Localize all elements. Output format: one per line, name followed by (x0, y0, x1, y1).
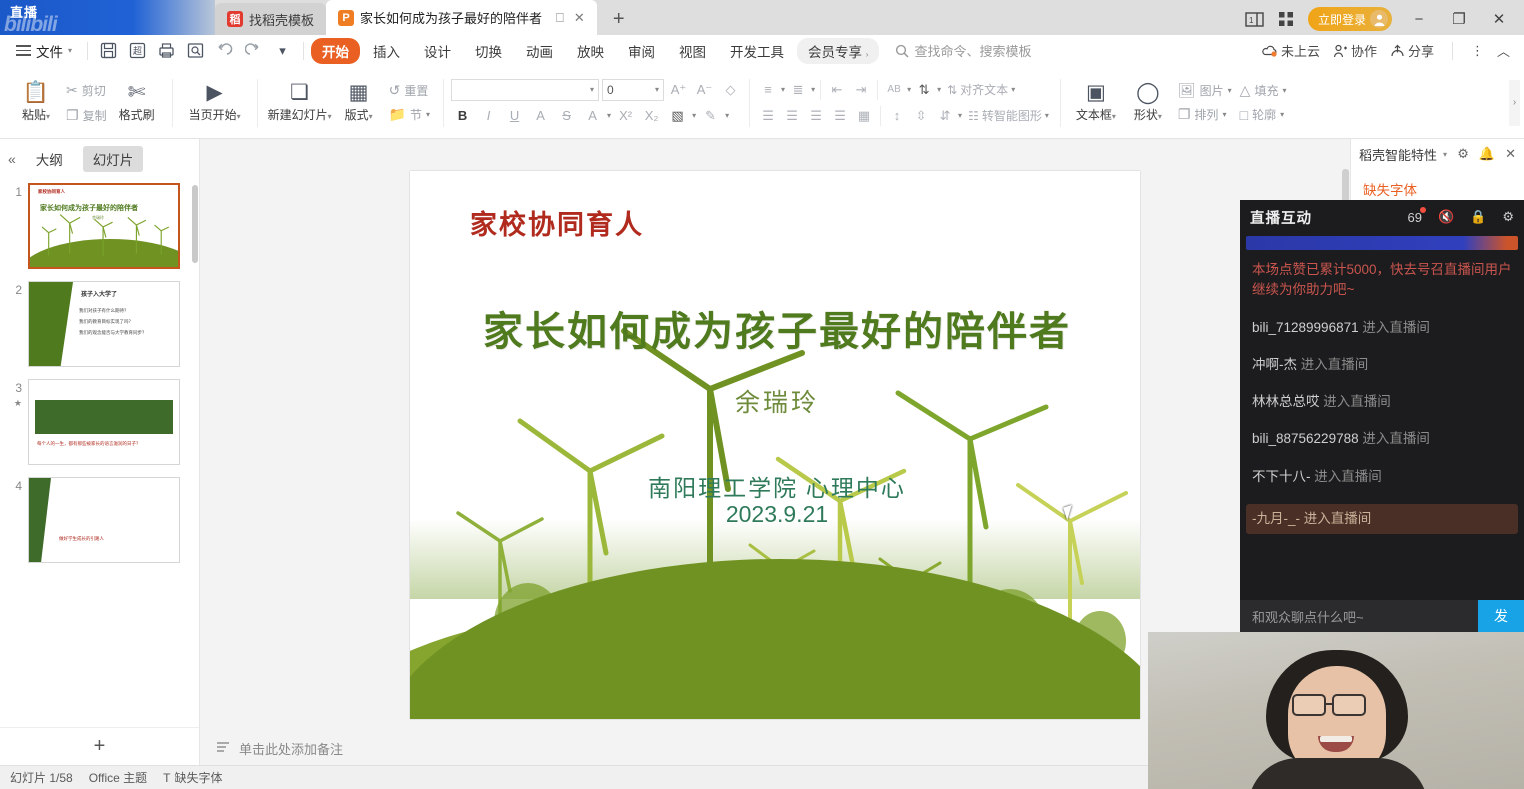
layout-label: 版式 (345, 108, 369, 122)
list-item[interactable]: 2 孩子入大学了 我们对孩子有什么期待？ 我们的教育目标实现了吗？ 我们的观念能… (0, 281, 193, 367)
cut-label: 剪切 (82, 82, 106, 99)
numbering-button[interactable]: ≣ (787, 79, 809, 100)
collapse-panel-icon[interactable]: « (8, 151, 16, 167)
copy-icon: ❐ (66, 107, 79, 124)
section-label: 节 (410, 106, 422, 123)
add-slide-button[interactable]: + (0, 727, 199, 765)
chat-user: -九月-_- (1252, 511, 1300, 526)
system-message: 本场点赞已累计5000，快去号召直播间用户继续为你助力吧~ (1252, 260, 1512, 301)
arrange-label: 排列 (1194, 106, 1218, 123)
tab-slides[interactable]: 幻灯片 (83, 146, 144, 172)
copy-label: 复制 (83, 107, 107, 124)
font-size-input[interactable]: 0 ▾ (602, 79, 664, 101)
paste-label: 粘贴 (22, 108, 46, 122)
outline-label: 轮廓 (1252, 106, 1276, 123)
font-size-value: 0 (607, 83, 614, 97)
chat-action: 进入直播间 (1301, 357, 1369, 372)
missing-font-label: 缺失字体 (175, 769, 223, 786)
shape-icon: ◯ (1136, 82, 1160, 103)
tab-presentation[interactable]: P 家长如何成为孩子最好的陪伴者 ⎕ ✕ (326, 0, 597, 35)
chat-user: bili_71289996871 (1252, 320, 1359, 335)
green-banner (29, 478, 51, 562)
expand-ribbon-button[interactable]: › (1509, 80, 1520, 126)
slide-number: 2 (4, 281, 22, 367)
align-text-icon: ⇅ (947, 83, 957, 97)
close-icon[interactable]: ✕ (1505, 146, 1516, 162)
picture-button[interactable]: 🖼 图片▾ (1174, 80, 1236, 101)
redo-icon[interactable] (240, 39, 267, 63)
cloud-status-label: 未上云 (1281, 41, 1320, 60)
new-slide-label: 新建幻灯片 (268, 108, 328, 122)
thumbnail-4[interactable]: 做好学生成长的引路人 (28, 477, 180, 563)
reset-button[interactable]: ↺ 重置 (385, 80, 434, 101)
divider (1060, 79, 1061, 127)
align-left-button[interactable]: ☰ (757, 105, 779, 126)
glasses-right (1332, 694, 1366, 716)
ribbon-group-font: ▾ 0 ▾ A⁺ A⁻ ◇ B I U A S A ▾ X² X₂ ▧ ▾ ✎ … (447, 79, 746, 127)
slide-number: 3 ★ (4, 379, 22, 465)
docer-panel-title: 稻壳智能特性 (1359, 145, 1437, 164)
chat-input[interactable]: 和观众聊点什么吧~ (1240, 607, 1478, 626)
bullets-button[interactable]: ≡ (757, 79, 779, 100)
file-menu-button[interactable]: 文件 ▾ (8, 39, 80, 63)
save-icon[interactable] (95, 39, 122, 63)
start-from-current-label: 当页开始 (189, 108, 237, 122)
svg-text:超: 超 (133, 45, 142, 56)
text-direction-button[interactable]: AB (883, 79, 905, 100)
picture-label: 图片 (1200, 82, 1224, 99)
menu-tab-insert[interactable]: 插入 (362, 38, 411, 64)
menu-tab-transition[interactable]: 切换 (464, 38, 513, 64)
live-promo-banner[interactable] (1246, 236, 1518, 250)
chevron-down-icon: ▾ (68, 46, 72, 55)
textbox-icon: ▣ (1086, 82, 1106, 103)
slide-author[interactable]: 余瑞玲 (457, 383, 1097, 419)
ribbon-group-paragraph: ≡▾ ≣▾ ⇤ ⇥ AB▾ ⇅▾ ⇅ 对齐文本 ▾ ☰ ☰ ☰ ☰ ▦ ↕ ⇳ … (753, 79, 1057, 126)
chat-message: 不下十八- 进入直播间 (1252, 467, 1512, 487)
close-window-button[interactable]: ✕ (1486, 7, 1512, 31)
format-painter-button[interactable]: ✄ 格式刷 (111, 71, 163, 135)
menu-tab-vip[interactable]: 会员专享 › (797, 38, 879, 64)
svg-text:1: 1 (1249, 16, 1254, 25)
like-count: 69 (1408, 210, 1422, 225)
strikethrough-button[interactable]: S (555, 105, 578, 127)
share-icon (1390, 44, 1405, 58)
chat-action: 进入直播间 (1362, 320, 1430, 335)
star-icon: ★ (14, 398, 22, 408)
arrange-icon: ❐ (1178, 106, 1191, 123)
menu-tab-design[interactable]: 设计 (413, 38, 462, 64)
notes-placeholder: 单击此处添加备注 (239, 739, 343, 758)
underline-button[interactable]: U (503, 105, 526, 127)
tab-outline[interactable]: 大纲 (26, 146, 73, 172)
shape-button[interactable]: ◯ 形状▾ (1122, 71, 1174, 135)
print-icon[interactable] (153, 39, 180, 63)
like-icon[interactable]: 69 (1408, 210, 1422, 225)
fill-label: 填充 (1254, 82, 1278, 99)
cloud-off-icon (1262, 44, 1278, 58)
menu-tab-developer[interactable]: 开发工具 (719, 38, 795, 64)
more-options-button[interactable]: ⋮ (1471, 43, 1484, 59)
login-button[interactable]: 立即登录 (1308, 7, 1392, 31)
tab-label: 找稻壳模板 (249, 10, 314, 29)
grid-view-icon[interactable] (1278, 11, 1294, 27)
cut-button[interactable]: ✂ 剪切 (62, 80, 111, 101)
superscript-button[interactable]: X² (614, 105, 637, 127)
thumbnail-list[interactable]: 1 家校协同育人 家长如何成为孩子最好的陪伴者 余瑞玲 (0, 179, 199, 727)
notes-icon (216, 740, 231, 757)
arrange-button[interactable]: ❐ 排列▾ (1174, 104, 1236, 125)
divider (443, 79, 444, 127)
collaborate-icon (1333, 44, 1348, 58)
paste-icon: 📋 (23, 82, 49, 103)
slide-thumbnail-panel: « 大纲 幻灯片 1 家校协同育人 家长如何成为孩子最好的陪伴者 余瑞玲 (0, 139, 200, 765)
collaborate-label: 协作 (1351, 41, 1377, 60)
undo-icon[interactable] (211, 39, 238, 63)
webcam-overlay[interactable] (1148, 632, 1524, 789)
align-right-button[interactable]: ☰ (805, 105, 827, 126)
outline-button[interactable]: □ 轮廓▾ (1236, 104, 1291, 125)
reading-layout-icon[interactable]: 1 (1245, 12, 1264, 27)
font-name-input[interactable]: ▾ (451, 79, 599, 101)
chat-action: 进入直播间 (1314, 469, 1382, 484)
reset-icon: ↺ (389, 82, 401, 99)
send-button[interactable]: 发 (1478, 600, 1524, 632)
thumb-line: 每个人的一生，都有那些被家长的语言滋润的日子？ (37, 440, 171, 448)
search-icon (895, 44, 909, 58)
minimize-button[interactable]: − (1406, 7, 1432, 31)
chat-message-highlighted: -九月-_- 进入直播间 (1246, 504, 1518, 534)
save-as-icon[interactable]: 超 (124, 39, 151, 63)
thumb-top-text (37, 385, 173, 393)
glasses-left (1292, 694, 1326, 716)
font-icon: T (163, 771, 170, 785)
chat-user: 不下十八- (1252, 469, 1311, 484)
paragraph-spacing-button[interactable]: ⇳ (910, 105, 932, 126)
teeth (1320, 736, 1352, 742)
slide-title[interactable]: 家长如何成为孩子最好的陪伴者 (457, 299, 1097, 357)
live-chat-input-row: 和观众聊点什么吧~ 发 (1240, 600, 1524, 632)
character-border-button[interactable]: A (581, 105, 604, 127)
slide-count-label: 幻灯片 1/58 (10, 769, 73, 786)
slide-number: 1 (4, 183, 22, 269)
divider (303, 42, 304, 60)
glasses-bridge (1326, 703, 1334, 705)
missing-font-status[interactable]: T 缺失字体 (163, 769, 222, 786)
menu-bar: 文件 ▾ 超 ▾ 开始 插入 设计 切换 动画 放映 审阅 视图 开发工具 会员… (0, 35, 1524, 67)
mute-icon[interactable]: 🔇 (1438, 209, 1454, 225)
tab-label: 家长如何成为孩子最好的陪伴者 (360, 8, 542, 27)
customize-toolbar-icon[interactable]: ▾ (269, 39, 296, 63)
chat-user: 冲啊-杰 (1252, 357, 1297, 372)
menu-tab-view[interactable]: 视图 (668, 38, 717, 64)
ribbon-group-slides: ❏ 新建幻灯片▾ ▦ 版式▾ ↺ 重置 📁 节 ▾ (261, 69, 440, 136)
chat-message: bili_71289996871 进入直播间 (1252, 318, 1512, 338)
grow-font-button[interactable]: A⁺ (667, 79, 690, 101)
align-center-button[interactable]: ☰ (781, 105, 803, 126)
torso (1248, 758, 1428, 789)
line-spacing-button[interactable]: ↕ (886, 105, 908, 126)
restore-button[interactable]: ❐ (1446, 7, 1472, 31)
chat-user: bili_88756229788 (1252, 431, 1359, 446)
chevron-right-icon: › (866, 50, 869, 59)
thumbnail-3[interactable]: 每个人的一生，都有那些被家长的语言滋润的日子？ (28, 379, 180, 465)
thumb-line: 我们对孩子有什么期待？ (79, 306, 147, 317)
smartart-icon: ☷ (968, 109, 979, 123)
print-preview-icon[interactable] (182, 39, 209, 63)
chat-action: 进入直播间 (1304, 511, 1372, 526)
picture-icon: 🖼 (1178, 82, 1196, 99)
slide-date[interactable]: 2023.9.21 (457, 501, 1097, 528)
align-text-button[interactable]: ⇅ 对齐文本 ▾ (943, 81, 1019, 98)
chat-user: 林林总总哎 (1252, 394, 1320, 409)
ribbon-group-insert: ▣ 文本框▾ ◯ 形状▾ 🖼 图片▾ ❐ 排列▾ △ 填充▾ □ 轮廓▾ (1064, 69, 1297, 136)
green-banner (29, 282, 73, 366)
live-chat-overlay: 直播互动 69 🔇 🔒 ⚙ 本场点赞已累计5000，快去号召直播间用户继续为你助… (1240, 200, 1524, 632)
collapse-ribbon-button[interactable]: ︿ (1497, 41, 1510, 60)
login-label: 立即登录 (1318, 11, 1366, 28)
chat-message: bili_88756229788 进入直播间 (1252, 429, 1512, 449)
thumbnail-scrollbar[interactable] (192, 185, 198, 263)
hamburger-icon (16, 42, 31, 59)
avatar (1370, 10, 1388, 28)
divider (172, 79, 173, 127)
subscript-button[interactable]: X₂ (640, 105, 663, 127)
bold-button[interactable]: B (451, 105, 474, 127)
highlight-button[interactable]: ✎ (699, 105, 722, 127)
justify-button[interactable]: ☰ (829, 105, 851, 126)
file-menu-label: 文件 (36, 41, 63, 61)
search-placeholder: 查找命令、搜索模板 (914, 41, 1031, 60)
live-chat-title: 直播互动 (1250, 207, 1312, 228)
divider (87, 42, 88, 60)
slide-organization[interactable]: 南阳理工学院 心理中心 (457, 469, 1097, 503)
new-slide-icon: ❏ (290, 82, 309, 103)
smartart-label: 转智能图形 (982, 107, 1042, 124)
chat-message: 冲啊-杰 进入直播间 (1252, 355, 1512, 375)
menu-tab-start[interactable]: 开始 (311, 38, 360, 64)
space-adjust-button[interactable]: ⇵ (934, 105, 956, 126)
reset-label: 重置 (404, 82, 428, 99)
slide-number: 4 (4, 477, 22, 563)
section-button[interactable]: 📁 节 ▾ (385, 104, 434, 125)
close-icon[interactable]: ✕ (574, 10, 585, 26)
layout-icon: ▦ (349, 82, 369, 103)
chat-action: 进入直播间 (1323, 394, 1391, 409)
thumb-title: 孩子入大学了 (81, 289, 117, 298)
textbox-label: 文本框 (1076, 108, 1112, 122)
browser-tab-bar: 直播 bilibili 稻 找稻壳模板 P 家长如何成为孩子最好的陪伴者 ⎕ ✕… (0, 0, 1524, 35)
menu-tab-slideshow[interactable]: 放映 (566, 38, 615, 64)
scissors-icon: ✂ (66, 82, 78, 99)
shape-label: 形状 (1134, 108, 1158, 122)
format-painter-label: 格式刷 (119, 106, 155, 123)
thumbnail-2[interactable]: 孩子入大学了 我们对孩子有什么期待？ 我们的教育目标实现了吗？ 我们的观念能否与… (28, 281, 180, 367)
sort-button[interactable]: ⇅ (913, 79, 935, 100)
section-icon: 📁 (389, 106, 406, 123)
divider (1452, 42, 1453, 60)
layout-button[interactable]: ▦ 版式▾ (333, 71, 385, 135)
new-slide-button[interactable]: ❏ 新建幻灯片▾ (267, 71, 333, 135)
align-text-label: 对齐文本 (960, 81, 1008, 98)
ribbon-toolbar: 📋 粘贴▾ ✂ 剪切 ❐ 复制 ✄ 格式刷 ▶ 当页开始▾ ❏ 新建幻灯片▾ (0, 67, 1524, 139)
divider (749, 79, 750, 127)
new-tab-button[interactable]: + (603, 3, 635, 35)
brush-icon: ✄ (128, 82, 146, 103)
slide-kicker[interactable]: 家校协同育人 (470, 203, 644, 242)
presenter-figure (1266, 650, 1408, 789)
clear-format-icon[interactable]: ◇ (719, 79, 742, 101)
thumb-image (35, 400, 173, 434)
shrink-font-button[interactable]: A⁻ (693, 79, 716, 101)
ribbon-group-clipboard: 📋 粘贴▾ ✂ 剪切 ❐ 复制 ✄ 格式刷 (4, 69, 169, 136)
gear-icon[interactable]: ⚙ (1457, 146, 1469, 162)
cloud-status-button[interactable]: 未上云 (1262, 41, 1320, 60)
live-message-list[interactable]: 本场点赞已累计5000，快去号召直播间用户继续为你助力吧~ bili_71289… (1240, 250, 1524, 534)
tab-docer-templates[interactable]: 稻 找稻壳模板 (215, 3, 326, 35)
menu-tab-animation[interactable]: 动画 (515, 38, 564, 64)
list-item[interactable]: 4 做好学生成长的引路人 (0, 477, 193, 563)
fill-button[interactable]: △ 填充▾ (1236, 80, 1291, 101)
theme-label[interactable]: Office 主题 (89, 769, 147, 786)
chat-action: 进入直播间 (1362, 431, 1430, 446)
settings-icon[interactable]: ⚙ (1502, 209, 1514, 225)
textbox-button[interactable]: ▣ 文本框▾ (1070, 71, 1122, 135)
list-item[interactable]: 1 家校协同育人 家长如何成为孩子最好的陪伴者 余瑞玲 (0, 183, 193, 269)
chat-message: 林林总总哎 进入直播间 (1252, 392, 1512, 412)
thumb-line: 我们的观念能否与大学教育同步？ (79, 328, 147, 339)
play-icon: ▶ (207, 82, 223, 103)
divider (257, 79, 258, 127)
start-from-current-button[interactable]: ▶ 当页开始▾ (182, 71, 248, 135)
distribute-button[interactable]: ▦ (853, 105, 875, 126)
slide-canvas[interactable]: 家校协同育人 家长如何成为孩子最好的陪伴者 余瑞玲 南阳理工学院 心理中心 20… (410, 171, 1140, 719)
thumb-line: 做好学生成长的引路人 (59, 536, 173, 542)
docer-icon: 稻 (227, 11, 243, 27)
share-button[interactable]: 分享 (1390, 41, 1434, 60)
text-shadow-button[interactable]: A (529, 105, 552, 127)
ribbon-group-play: ▶ 当页开始▾ (176, 69, 254, 136)
lock-icon[interactable]: 🔒 (1470, 209, 1486, 225)
increase-indent-button[interactable]: ⇥ (850, 79, 872, 100)
list-item[interactable]: 3 ★ 每个人的一生，都有那些被家长的语言滋润的日子？ (0, 379, 193, 465)
thumbnail-1[interactable]: 家校协同育人 家长如何成为孩子最好的陪伴者 余瑞玲 (28, 183, 180, 269)
slide-number-value: 3 (15, 381, 22, 395)
convert-to-smartart-button[interactable]: ☷ 转智能图形 ▾ (964, 107, 1053, 124)
thumb-line: 我们的教育目标实现了吗？ (79, 317, 147, 328)
decrease-indent-button[interactable]: ⇤ (826, 79, 848, 100)
live-chat-header: 直播互动 69 🔇 🔒 ⚙ (1240, 200, 1524, 234)
bell-icon[interactable]: 🔔 (1479, 146, 1495, 162)
thumb-body (59, 488, 173, 496)
copy-button[interactable]: ❐ 复制 (62, 105, 111, 126)
tab-preview-icon[interactable]: ⎕ (556, 10, 564, 26)
menu-tab-vip-label: 会员专享 (808, 45, 862, 60)
share-label: 分享 (1408, 41, 1434, 60)
tab-home[interactable] (0, 3, 215, 35)
ppt-icon: P (338, 10, 354, 26)
chevron-down-icon[interactable]: ▾ (1443, 150, 1447, 159)
turbine-art (30, 185, 178, 267)
menu-tab-review[interactable]: 审阅 (617, 38, 666, 64)
collaborate-button[interactable]: 协作 (1333, 41, 1377, 60)
character-shading-button[interactable]: ▧ (666, 105, 689, 127)
search-input[interactable]: 查找命令、搜索模板 (895, 41, 1031, 60)
thumb-lines: 我们对孩子有什么期待？ 我们的教育目标实现了吗？ 我们的观念能否与大学教育同步？ (79, 306, 147, 338)
fill-icon: △ (1240, 82, 1251, 99)
italic-button[interactable]: I (477, 105, 500, 127)
paste-button[interactable]: 📋 粘贴▾ (10, 71, 62, 135)
outline-icon: □ (1240, 107, 1248, 123)
